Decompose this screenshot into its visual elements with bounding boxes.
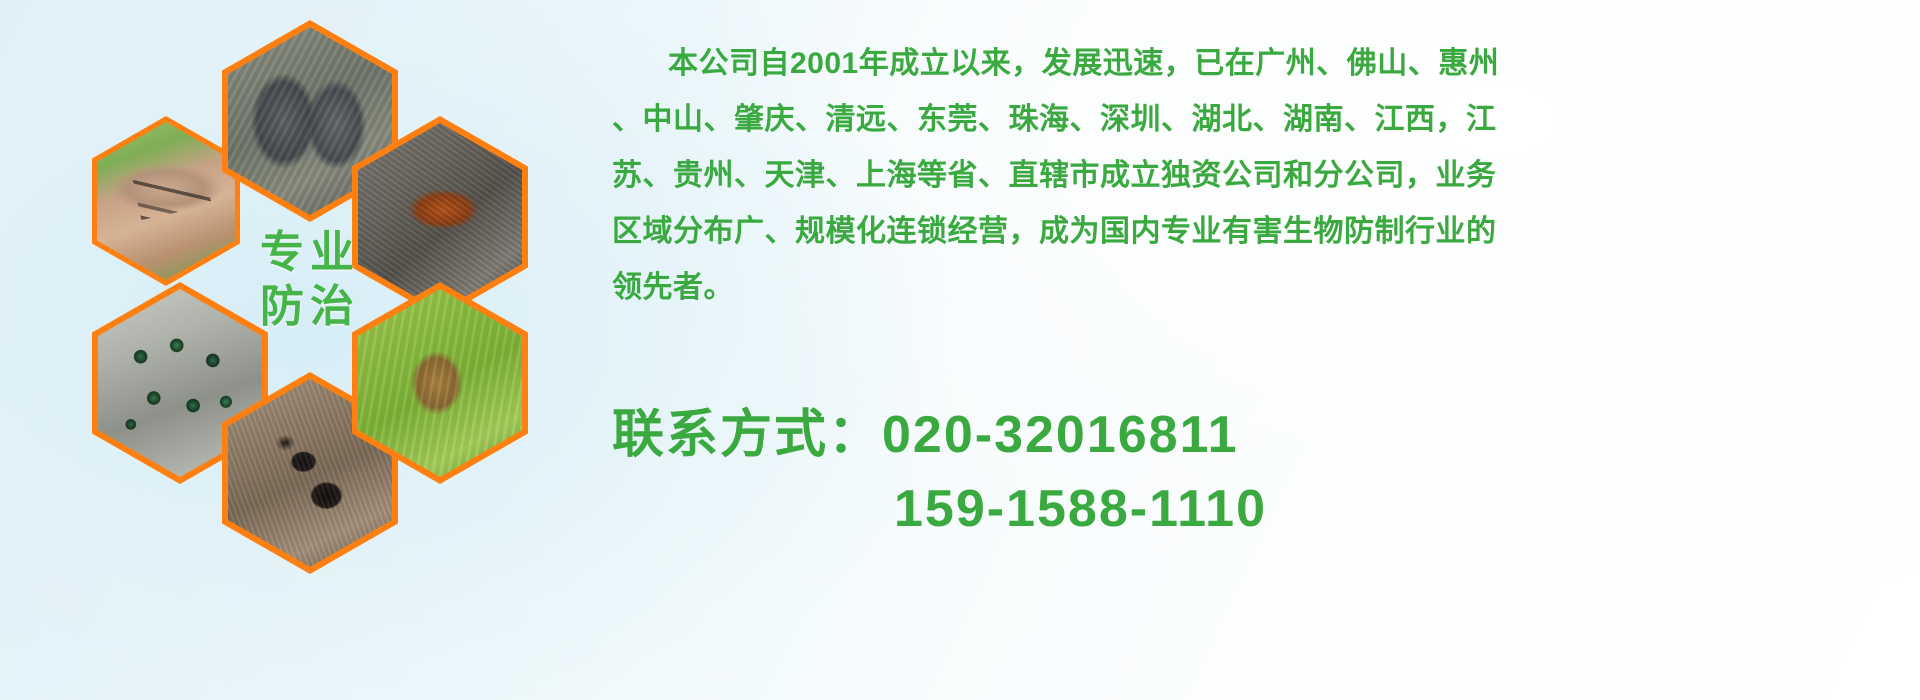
about-line-2: 、中山、肇庆、清远、东莞、珠海、深圳、湖北、湖南、江西，江 [612,92,1870,148]
company-description: 本公司自2001年成立以来，发展迅速，已在广州、佛山、惠州 、中山、肇庆、清远、… [612,36,1870,316]
about-line-1-text: 本公司自2001年成立以来，发展迅速，已在广州、佛山、惠州 [668,47,1499,80]
about-line-1: 本公司自2001年成立以来，发展迅速，已在广州、佛山、惠州 [612,36,1870,92]
badge-text: 专业 防治 [224,182,396,378]
mosquito-photo-inner [97,122,235,280]
company-intro-banner: 专业 防治 本公司自2001年成立以来，发展迅速，已在广州、佛山、惠州 、中山、… [0,0,1920,700]
about-line-4: 区域分布广、规模化连锁经营，成为国内专业有害生物防制行业的 [612,204,1870,260]
hex-photo-cluster: 专业 防治 [92,10,592,570]
contact-mobile[interactable]: 159-1588-1110 [612,472,1870,546]
badge-line-2: 防治 [260,280,360,334]
mosquito-image [97,122,235,280]
contact-phone[interactable]: 联系方式：020-32016811 [612,398,1870,472]
mosquito-photo [92,116,240,286]
contact-block: 联系方式：020-32016811 159-1588-1110 [612,398,1870,546]
badge-line-1: 专业 [260,226,360,280]
about-line-5: 领先者。 [612,260,1870,316]
about-line-3: 苏、贵州、天津、上海等省、直辖市成立独资公司和分公司，业务 [612,148,1870,204]
